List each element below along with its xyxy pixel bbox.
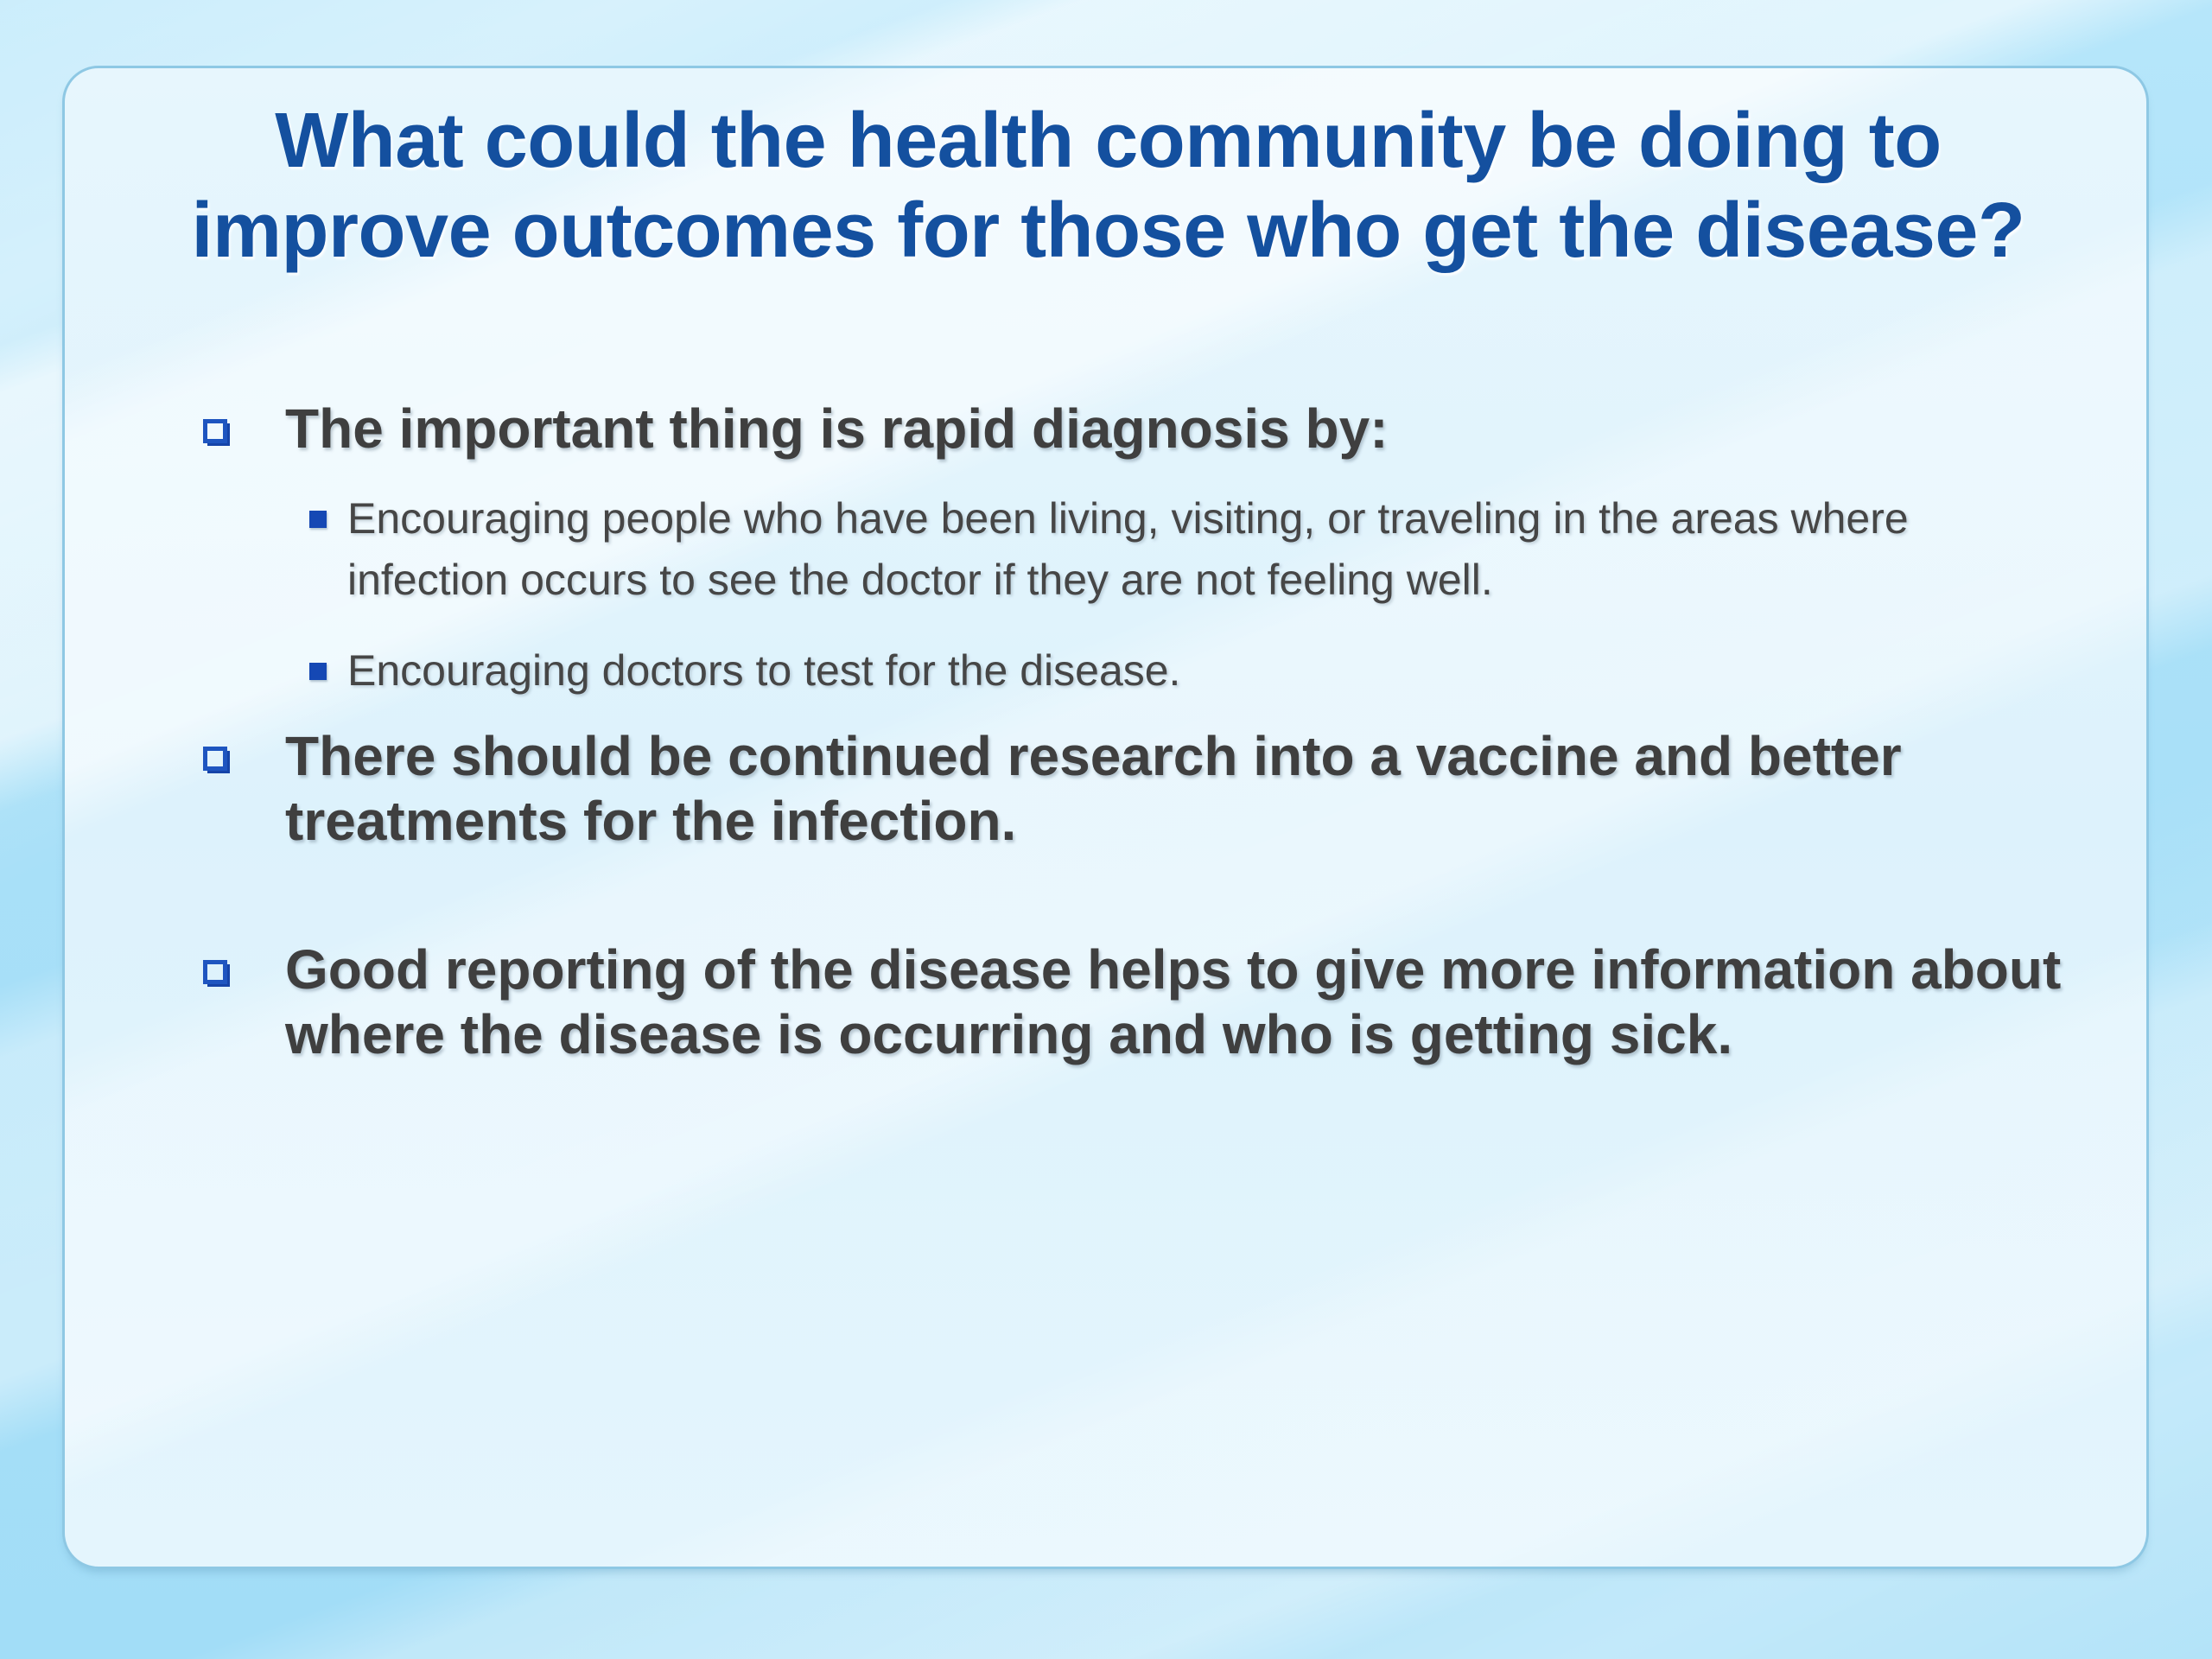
bullet-text: The important thing is rapid diagnosis b…	[285, 397, 1389, 460]
sub-bullet-text: Encouraging people who have been living,…	[347, 494, 1909, 604]
bullet-item: Good reporting of the disease helps to g…	[141, 938, 2085, 1068]
bullet-text: Good reporting of the disease helps to g…	[285, 938, 2061, 1066]
sub-bullet-list: Encouraging people who have been living,…	[285, 488, 2085, 702]
slide-title: What could the health community be doing…	[151, 96, 2065, 276]
hollow-square-icon	[203, 747, 227, 771]
hollow-square-icon	[203, 960, 227, 984]
slide-canvas: What could the health community be doing…	[0, 0, 2212, 1659]
bullet-item: There should be continued research into …	[141, 724, 2085, 855]
slide-content-panel: What could the health community be doing…	[62, 66, 2149, 1569]
sub-bullet-item: Encouraging people who have been living,…	[285, 488, 2015, 611]
bullet-list: The important thing is rapid diagnosis b…	[141, 397, 2085, 1122]
bullet-item: The important thing is rapid diagnosis b…	[141, 397, 2085, 702]
sub-bullet-item: Encouraging doctors to test for the dise…	[285, 640, 2015, 702]
bullet-text: There should be continued research into …	[285, 725, 1902, 853]
filled-square-icon	[309, 663, 327, 680]
sub-bullet-text: Encouraging doctors to test for the dise…	[347, 646, 1180, 695]
hollow-square-icon	[203, 419, 227, 443]
filled-square-icon	[309, 511, 327, 528]
